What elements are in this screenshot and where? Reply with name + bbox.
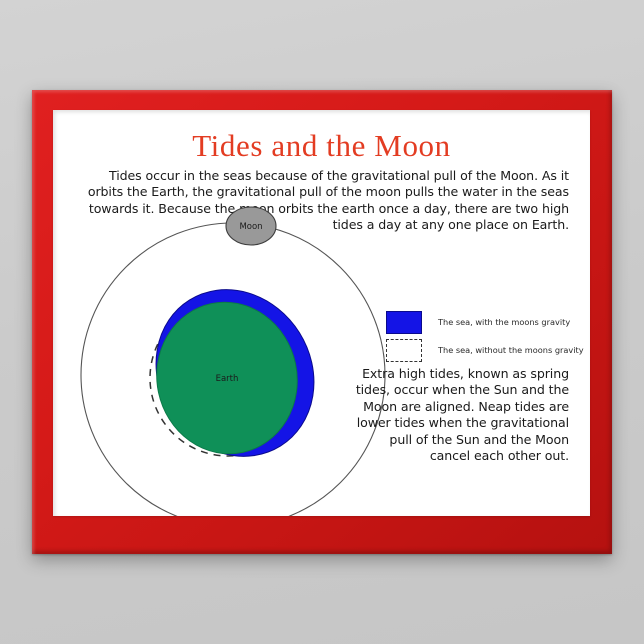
earth-label: Earth: [216, 374, 239, 384]
legend-swatch-dashed-icon: [386, 339, 422, 362]
tide-diagram: Earth Moon: [63, 192, 403, 516]
tide-diagram-svg: Earth Moon: [63, 192, 403, 516]
poster-scene: Tides and the Moon Tides occur in the se…: [0, 0, 644, 644]
poster-frame: Tides and the Moon Tides occur in the se…: [32, 90, 612, 554]
legend: The sea, with the moons gravity The sea,…: [386, 308, 586, 364]
poster-page: Tides and the Moon Tides occur in the se…: [53, 110, 590, 516]
legend-label-sea-with-gravity: The sea, with the moons gravity: [438, 317, 570, 327]
legend-label-sea-without-gravity: The sea, without the moons gravity: [438, 345, 584, 355]
legend-item-sea-with-gravity: The sea, with the moons gravity: [386, 308, 586, 336]
spring-tides-paragraph: Extra high tides, known as spring tides,…: [353, 366, 569, 464]
moon-label: Moon: [239, 222, 262, 232]
page-title: Tides and the Moon: [53, 128, 590, 164]
legend-item-sea-without-gravity: The sea, without the moons gravity: [386, 336, 586, 364]
legend-swatch-filled-icon: [386, 311, 422, 334]
